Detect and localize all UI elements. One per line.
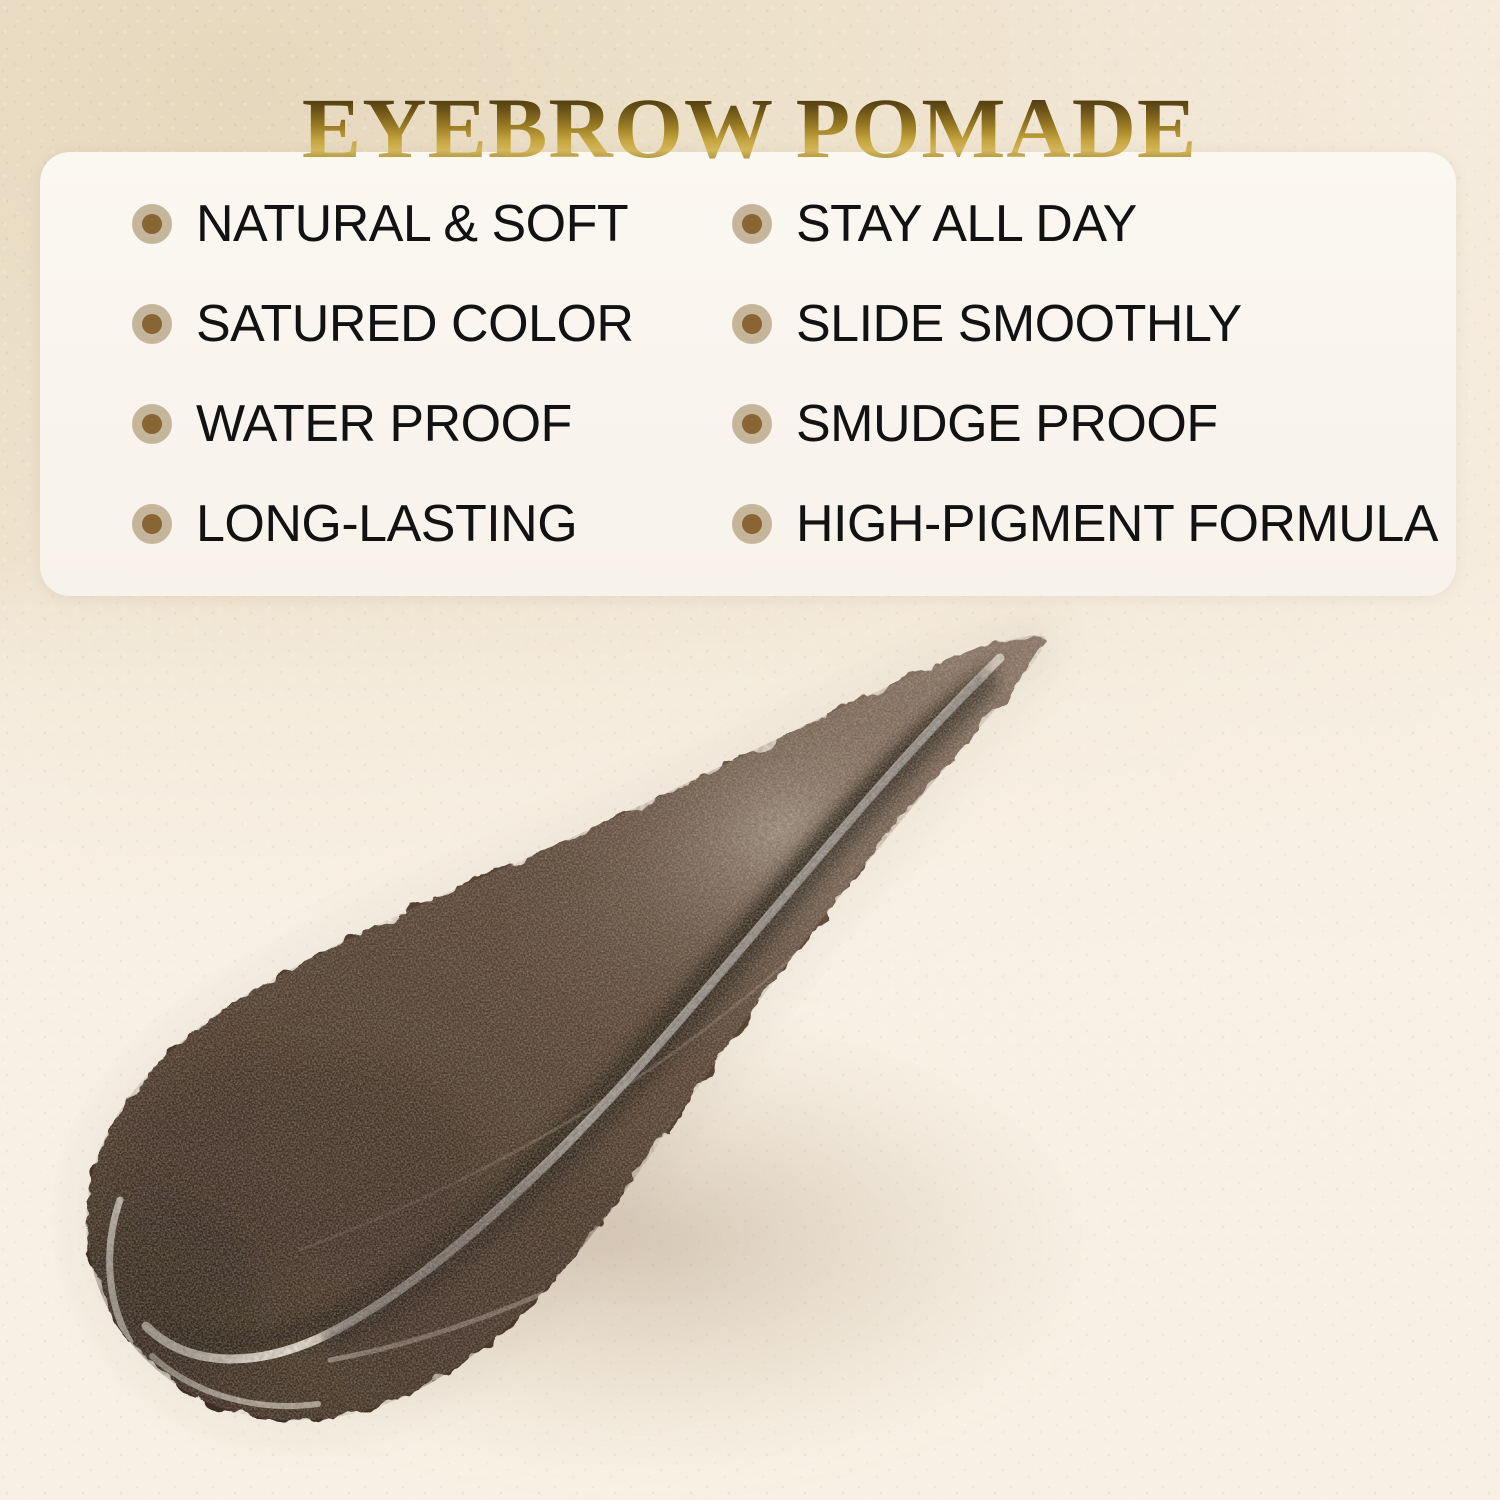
bullet-dot-icon <box>732 304 772 344</box>
feature-item-water-proof: WATER PROOF <box>132 374 732 474</box>
page-title: EYEBROW POMADE <box>302 85 1198 171</box>
feature-item-satured-color: SATURED COLOR <box>132 274 732 374</box>
bullet-dot-icon <box>132 404 172 444</box>
feature-item-long-lasting: LONG-LASTING <box>132 474 732 574</box>
bullet-dot-icon <box>732 404 772 444</box>
feature-label: LONG-LASTING <box>196 498 577 550</box>
feature-label: SATURED COLOR <box>196 298 633 350</box>
feature-label: SMUDGE PROOF <box>796 398 1218 450</box>
feature-item-slide-smoothly: SLIDE SMOOTHLY <box>732 274 1456 374</box>
feature-item-smudge-proof: SMUDGE PROOF <box>732 374 1456 474</box>
pomade-swatch-smear <box>0 600 1500 1500</box>
feature-item-high-pigment-formula: HIGH-PIGMENT FORMULA <box>732 474 1456 574</box>
bullet-dot-icon <box>132 304 172 344</box>
page-title-container: EYEBROW POMADE <box>0 27 1500 228</box>
product-infographic: EYEBROW POMADE NATURAL & SOFT STAY ALL D… <box>0 0 1500 1500</box>
product-swatch-area <box>0 600 1500 1500</box>
bullet-dot-icon <box>132 504 172 544</box>
feature-label: SLIDE SMOOTHLY <box>796 298 1242 350</box>
feature-label: WATER PROOF <box>196 398 572 450</box>
bullet-dot-icon <box>732 504 772 544</box>
feature-label: HIGH-PIGMENT FORMULA <box>796 498 1438 550</box>
